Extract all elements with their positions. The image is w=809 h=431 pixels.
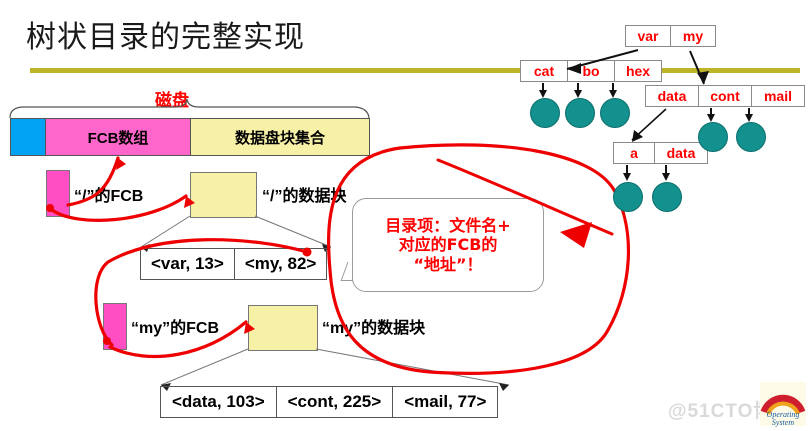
page-title: 树状目录的完整实现: [26, 12, 305, 56]
tree-node-root: var my: [625, 25, 716, 47]
tree-leaf-circle: [736, 122, 766, 152]
root-directory-table: <var, 13> <my, 82>: [140, 248, 327, 280]
tree-cell-a: a: [614, 143, 655, 163]
callout-line-1: 目录项：文件名+: [385, 216, 510, 236]
callout-line-2: 对应的FCB的: [399, 235, 498, 255]
dir-entry: <mail, 77>: [393, 387, 497, 417]
tree-leaf-circle: [613, 182, 643, 212]
disk-bar: FCB数组 数据盘块集合: [10, 118, 370, 156]
tree-cell-data2: data: [655, 143, 707, 163]
root-fcb-pointer-dot: [46, 204, 54, 212]
tree-cell-bo: bo: [568, 61, 615, 81]
root-datablock-label: “/”的数据块: [262, 182, 346, 206]
callout-line-3: “地址”！: [413, 255, 482, 275]
disk-label: 磁盘: [155, 86, 189, 111]
tree-leaf-circle: [565, 98, 595, 128]
tree-node-data-children: a data: [613, 142, 708, 164]
tree-cell-var: var: [626, 26, 671, 46]
tree-node-my-children: data cont mail: [645, 85, 805, 107]
disk-segment-fcb-array: FCB数组: [46, 119, 191, 155]
tree-cell-my: my: [671, 26, 715, 46]
disk-segment-data-blocks: 数据盘块集合: [191, 119, 369, 155]
tree-cell-cont: cont: [699, 86, 752, 106]
tree-cell-hex: hex: [615, 61, 661, 81]
slide-canvas: 树状目录的完整实现 磁盘 FCB数组 数据盘块集合 “/”的FCB “/”的数据…: [0, 0, 809, 431]
my-directory-table: <data, 103> <cont, 225> <mail, 77>: [160, 386, 498, 418]
dir-entry: <data, 103>: [161, 387, 277, 417]
tree-node-var-children: cat bo hex: [520, 60, 662, 82]
tree-cell-mail: mail: [752, 86, 804, 106]
title-divider: [30, 68, 800, 73]
tree-cell-data: data: [646, 86, 699, 106]
my-datablock-box: [248, 305, 318, 351]
tree-leaf-circle: [530, 98, 560, 128]
dir-entry: <cont, 225>: [277, 387, 394, 417]
disk-segment-boot: [11, 119, 46, 155]
tree-cell-cat: cat: [521, 61, 568, 81]
tree-leaf-circle: [652, 182, 682, 212]
dir-entry: <my, 82>: [235, 249, 327, 279]
watermark: @51CTO博客: [668, 396, 793, 423]
my-fcb-label: “my”的FCB: [131, 314, 219, 338]
tree-leaf-circle: [698, 122, 728, 152]
callout-box: 目录项：文件名+ 对应的FCB的 “地址”！: [352, 198, 544, 292]
root-datablock-box: [190, 172, 257, 218]
dir-entry: <var, 13>: [141, 249, 235, 279]
my-datablock-label: “my”的数据块: [322, 314, 425, 338]
tree-leaf-circle: [600, 98, 630, 128]
root-fcb-label: “/”的FCB: [74, 182, 143, 206]
my-fcb-pointer-dot: [103, 337, 111, 345]
